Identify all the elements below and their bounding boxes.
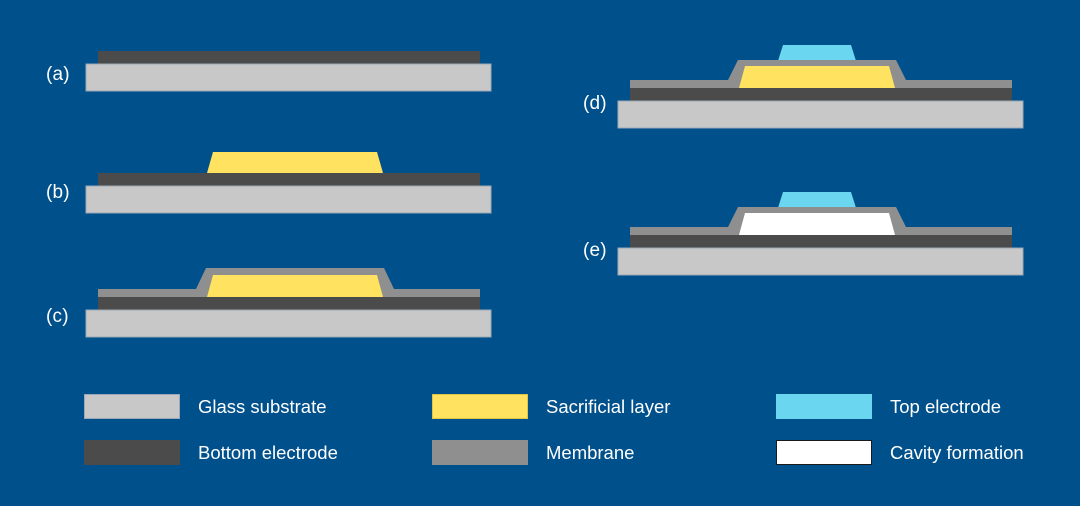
legend-label-sacrificial-layer: Sacrificial layer [546, 396, 670, 418]
legend-item-membrane: Membrane [432, 440, 634, 465]
panel-label-c: (c) [46, 306, 69, 328]
legend-swatch-bottom-electrode [84, 440, 180, 465]
process-flow-diagram [0, 0, 1080, 506]
panel-b-sacrificial-layer [207, 152, 383, 173]
panel-a [86, 51, 491, 91]
legend-swatch-sacrificial-layer [432, 394, 528, 419]
panel-label-a: (a) [46, 64, 70, 86]
panel-a-bottom-electrode [98, 51, 480, 64]
panel-e [618, 192, 1023, 275]
legend-swatch-glass-substrate [84, 394, 180, 419]
legend-label-membrane: Membrane [546, 442, 634, 464]
panel-c [86, 268, 491, 337]
panel-c-glass-substrate [86, 310, 491, 337]
legend-label-bottom-electrode: Bottom electrode [198, 442, 338, 464]
legend-swatch-top-electrode [776, 394, 872, 419]
panel-d-bottom-electrode [630, 88, 1012, 101]
panel-e-glass-substrate [618, 248, 1023, 275]
legend-label-top-electrode: Top electrode [890, 396, 1001, 418]
panel-b [86, 152, 491, 213]
legend-item-cavity-formation: Cavity formation [776, 440, 1024, 465]
legend-swatch-cavity-formation [776, 440, 872, 465]
panel-b-glass-substrate [86, 186, 491, 213]
panel-b-bottom-electrode [98, 173, 480, 186]
panel-d-sacrificial-layer [739, 66, 895, 88]
legend-item-bottom-electrode: Bottom electrode [84, 440, 338, 465]
panel-label-b: (b) [46, 182, 70, 204]
panel-c-sacrificial-layer [207, 275, 383, 297]
panel-label-e: (e) [583, 240, 607, 262]
panel-d-glass-substrate [618, 101, 1023, 128]
legend-item-top-electrode: Top electrode [776, 394, 1001, 419]
figure-canvas: (a) (b) (c) (d) (e) Glass substrate Bott… [0, 0, 1080, 506]
legend-label-cavity-formation: Cavity formation [890, 442, 1024, 464]
panel-d [618, 45, 1023, 128]
legend-item-glass-substrate: Glass substrate [84, 394, 327, 419]
panel-label-d: (d) [583, 93, 607, 115]
panel-e-cavity-formation [739, 213, 895, 235]
legend-item-sacrificial-layer: Sacrificial layer [432, 394, 670, 419]
panel-e-bottom-electrode [630, 235, 1012, 248]
legend-label-glass-substrate: Glass substrate [198, 396, 327, 418]
panel-a-glass-substrate [86, 64, 491, 91]
legend-swatch-membrane [432, 440, 528, 465]
panel-c-bottom-electrode [98, 297, 480, 310]
